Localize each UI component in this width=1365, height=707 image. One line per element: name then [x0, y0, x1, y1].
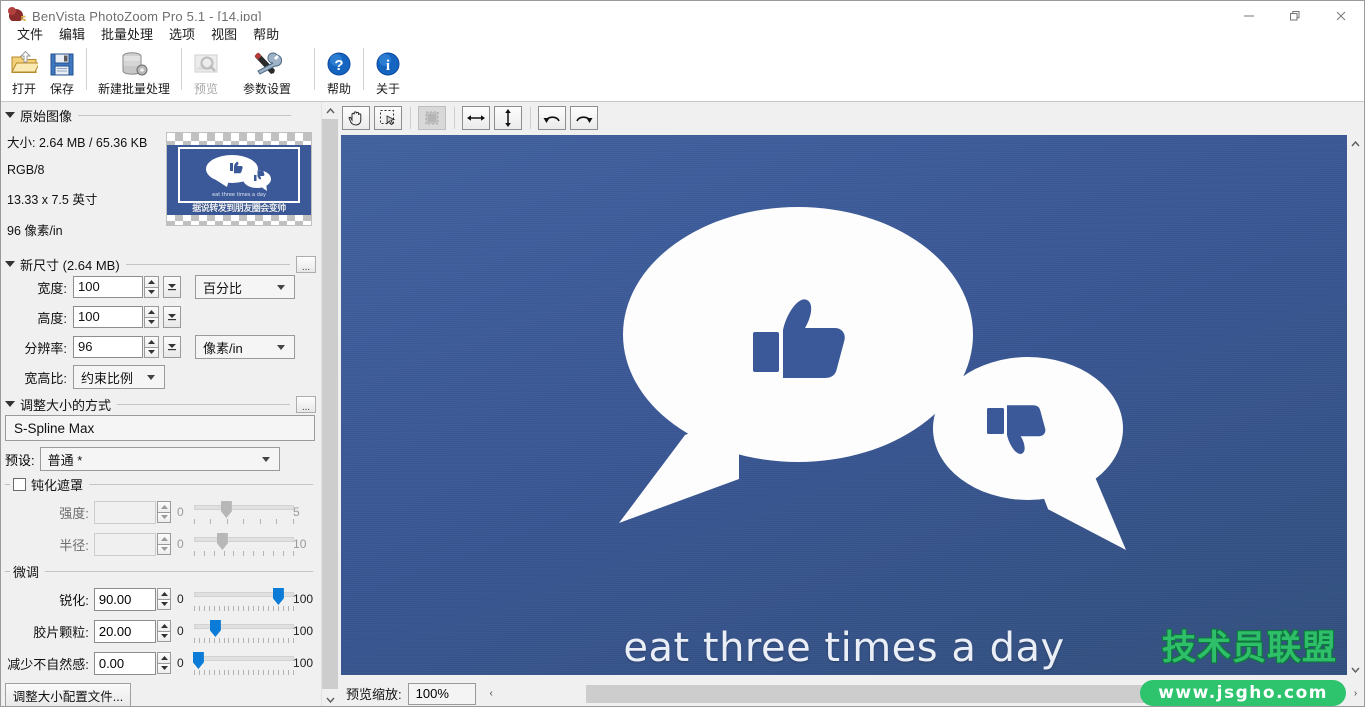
chevron-down-icon	[262, 457, 270, 462]
zoom-select[interactable]: 100%	[408, 683, 476, 705]
application-window: 5 BenVista PhotoZoom Pro 5.1 - [14.jpg]	[0, 0, 1365, 707]
filmgrain-stepper[interactable]	[157, 620, 171, 642]
slider-ticks	[194, 670, 294, 675]
stepper-up-icon[interactable]	[144, 276, 159, 288]
open-button[interactable]: 打开	[5, 45, 43, 100]
scroll-right-arrow-icon[interactable]: ›	[1347, 685, 1364, 703]
height-row: 高度: 100	[1, 305, 321, 329]
radius-row: 半径: 0 10	[1, 530, 321, 558]
toolbar-separator-1	[86, 48, 87, 90]
thumbnail-frame: eat three times a day	[178, 147, 300, 203]
menu-item-batch[interactable]: 批量处理	[93, 22, 161, 45]
flip-horizontal-icon	[466, 110, 486, 126]
settings-button[interactable]: 参数设置	[225, 45, 309, 100]
artifact-reduction-max: 100	[293, 656, 321, 670]
width-row: 宽度: 100 百分比	[1, 275, 321, 299]
stepper-down-icon[interactable]	[157, 632, 171, 643]
resolution-lock-button[interactable]	[163, 336, 181, 358]
svg-text:i: i	[386, 58, 390, 74]
slider-thumb[interactable]	[217, 533, 228, 550]
rotate-right-button[interactable]	[570, 106, 598, 130]
settings-panel-scrollbar[interactable]	[321, 102, 338, 707]
slider-ticks	[194, 519, 294, 524]
rotate-left-button[interactable]	[538, 106, 566, 130]
toolbar-separator-3	[314, 48, 315, 90]
image-toolbar-separator-1	[410, 107, 411, 129]
resolution-stepper[interactable]	[144, 336, 159, 358]
group-dash	[5, 484, 10, 485]
image-toolbar	[338, 102, 1364, 134]
height-input[interactable]: 100	[73, 306, 143, 328]
slider-thumb[interactable]	[210, 620, 221, 637]
settings-tools-icon	[252, 49, 282, 79]
radius-slider[interactable]	[194, 531, 287, 557]
zoom-label: 预览缩放:	[346, 684, 402, 703]
collapse-triangle-icon	[5, 261, 15, 267]
settings-panel: 原始图像 大小: 2.64 MB / 65.36 KB RGB/8 13.33 …	[1, 102, 321, 707]
original-colormode-text: RGB/8	[7, 163, 166, 177]
hand-pan-icon	[347, 109, 365, 127]
sharpen-row: 锐化: 90.00 0 100	[1, 585, 321, 613]
original-image-title: 原始图像	[20, 106, 72, 125]
svg-text:eat three times a day: eat three times a day	[212, 192, 266, 198]
resize-method-section-header[interactable]: 调整大小的方式 ...	[1, 395, 321, 413]
header-rule	[126, 264, 290, 265]
group-dash	[5, 571, 10, 572]
svg-text:?: ?	[334, 57, 343, 74]
new-size-title: 新尺寸 (2.64 MB)	[20, 255, 120, 274]
stepper-up-icon[interactable]	[144, 336, 159, 348]
image-canvas[interactable]: eat three times a day 技术员联盟	[341, 135, 1347, 675]
width-input[interactable]: 100	[73, 276, 143, 298]
radius-label: 半径:	[5, 535, 89, 554]
aspect-value: 约束比例	[81, 368, 140, 387]
unsharp-mask-checkbox[interactable]	[13, 478, 26, 491]
height-label: 高度:	[7, 308, 67, 327]
rotate-cw-icon	[574, 110, 594, 126]
pan-tool-button[interactable]	[342, 106, 370, 130]
preview-vertical-scrollbar[interactable]	[1347, 135, 1364, 678]
about-button[interactable]: i 关于	[369, 45, 407, 100]
width-stepper[interactable]	[144, 276, 159, 298]
marquee-select-icon	[379, 109, 397, 127]
artifact-reduction-min: 0	[177, 656, 192, 670]
slider-track	[194, 624, 294, 629]
artifact-reduction-row: 减少不自然感: 0.00 0 100	[1, 649, 321, 677]
original-resolution-text: 96 像素/in	[7, 220, 166, 239]
menu-item-file[interactable]: 文件	[9, 22, 51, 45]
new-size-section-header[interactable]: 新尺寸 (2.64 MB) ...	[1, 255, 321, 273]
new-batch-button[interactable]: 新建批量处理	[92, 45, 176, 100]
sharpen-label: 锐化:	[5, 590, 89, 609]
resolution-row: 分辨率: 96 像素/in	[1, 335, 321, 359]
filmgrain-max: 100	[293, 624, 321, 638]
crop-tool-button[interactable]	[418, 106, 446, 130]
height-lock-button[interactable]	[163, 306, 181, 328]
scroll-down-arrow-icon[interactable]	[322, 691, 339, 707]
help-button[interactable]: ? 帮助	[320, 45, 358, 100]
artifact-reduction-input[interactable]: 0.00	[94, 652, 156, 675]
preview-button-label: 预览	[194, 80, 218, 97]
select-tool-button[interactable]	[374, 106, 402, 130]
watermark-text: 技术员联盟	[1162, 620, 1337, 669]
slider-thumb[interactable]	[273, 588, 284, 605]
menu-bar: 文件 编辑 批量处理 选项 视图 帮助	[1, 21, 1364, 45]
width-label: 宽度:	[7, 278, 67, 297]
open-button-label: 打开	[12, 80, 36, 97]
artifact-reduction-stepper[interactable]	[157, 652, 171, 674]
preview-photo: eat three times a day 技术员联盟	[341, 135, 1347, 675]
scroll-up-arrow-icon[interactable]	[322, 102, 339, 119]
slider-thumb[interactable]	[221, 501, 232, 518]
strength-row: 强度: 0 5	[1, 498, 321, 526]
sharpen-stepper[interactable]	[157, 588, 171, 610]
stepper-up-icon[interactable]	[157, 533, 171, 545]
preset-label: 预设:	[5, 450, 35, 469]
artifact-reduction-label: 减少不自然感:	[5, 654, 89, 673]
main-toolbar: 打开 保存	[1, 45, 1364, 102]
original-size-text: 大小: 2.64 MB / 65.36 KB	[7, 132, 166, 151]
thumbnail-picture: eat three times a day 据说转发到朋友圈会变帅	[167, 145, 311, 215]
resize-method-value: S-Spline Max	[14, 421, 290, 436]
stepper-up-icon[interactable]	[144, 306, 159, 318]
image-thumbnail[interactable]: eat three times a day 据说转发到朋友圈会变帅	[166, 132, 312, 226]
menu-item-view[interactable]: 视图	[203, 22, 245, 45]
radius-stepper[interactable]	[157, 533, 171, 555]
flip-horizontal-button[interactable]	[462, 106, 490, 130]
resolution-unit-value: 像素/in	[203, 338, 270, 357]
original-image-info: 大小: 2.64 MB / 65.36 KB RGB/8 13.33 x 7.5…	[1, 132, 166, 251]
resize-method-more-button[interactable]: ...	[296, 396, 316, 413]
stepper-down-icon[interactable]	[157, 545, 171, 556]
new-batch-button-label: 新建批量处理	[98, 80, 170, 97]
aspect-label: 宽高比:	[7, 368, 67, 387]
thumbnail-caption: 据说转发到朋友圈会变帅	[167, 201, 311, 214]
crop-icon	[423, 109, 441, 127]
stepper-down-icon[interactable]	[157, 664, 171, 675]
header-rule	[89, 484, 313, 485]
preview-button[interactable]: 预览	[187, 45, 225, 100]
open-folder-icon	[10, 49, 38, 79]
filmgrain-min: 0	[177, 624, 192, 638]
batch-database-icon	[119, 49, 149, 79]
stepper-down-icon[interactable]	[157, 600, 171, 611]
finetune-label: 微调	[13, 562, 39, 581]
flip-vertical-button[interactable]	[494, 106, 522, 130]
resize-method-title: 调整大小的方式	[20, 395, 111, 414]
aspect-row: 宽高比: 约束比例	[1, 365, 321, 389]
height-stepper[interactable]	[144, 306, 159, 328]
collapse-triangle-icon	[5, 401, 15, 407]
watermark-url: www.jsgho.com	[1140, 680, 1346, 706]
slider-ticks	[194, 551, 294, 556]
menu-item-help[interactable]: 帮助	[245, 22, 287, 45]
slider-track	[194, 505, 294, 510]
filmgrain-label: 胶片颗粒:	[5, 622, 89, 641]
original-dimensions-text: 13.33 x 7.5 英寸	[7, 189, 166, 208]
slider-ticks	[194, 606, 294, 611]
collapse-triangle-icon	[5, 112, 15, 118]
toolbar-separator-2	[181, 48, 182, 90]
preview-area: eat three times a day 技术员联盟 预览缩放: 100% ‹	[338, 102, 1364, 707]
header-rule	[45, 571, 313, 572]
settings-button-label: 参数设置	[243, 80, 291, 97]
menu-item-options[interactable]: 选项	[161, 22, 203, 45]
strength-stepper[interactable]	[157, 501, 171, 523]
strength-max: 5	[293, 505, 321, 519]
unsharp-mask-header: 钝化遮罩	[1, 476, 321, 492]
strength-slider[interactable]	[194, 499, 287, 525]
stepper-up-icon[interactable]	[157, 588, 171, 600]
toolbar-separator-4	[363, 48, 364, 90]
slider-thumb[interactable]	[193, 652, 204, 669]
strength-label: 强度:	[5, 503, 89, 522]
filmgrain-input[interactable]: 20.00	[94, 620, 156, 643]
scroll-down-arrow-icon[interactable]	[1347, 661, 1364, 678]
sharpen-input[interactable]: 90.00	[94, 588, 156, 611]
scroll-up-arrow-icon[interactable]	[1347, 135, 1364, 152]
about-button-label: 关于	[376, 80, 400, 97]
rotate-ccw-icon	[542, 110, 562, 126]
header-rule	[117, 404, 290, 405]
strength-min: 0	[177, 505, 192, 519]
help-button-label: 帮助	[327, 80, 351, 97]
header-rule	[78, 115, 291, 116]
original-image-section-header[interactable]: 原始图像	[1, 106, 321, 124]
preset-select[interactable]: 普通 *	[40, 447, 280, 471]
resolution-input[interactable]: 96	[73, 336, 143, 358]
resolution-label: 分辨率:	[7, 338, 67, 357]
stepper-up-icon[interactable]	[157, 652, 171, 664]
save-button[interactable]: 保存	[43, 45, 81, 100]
stepper-down-icon[interactable]	[144, 318, 159, 329]
stepper-down-icon[interactable]	[144, 348, 159, 359]
image-toolbar-separator-2	[454, 107, 455, 129]
save-disk-icon	[49, 49, 75, 79]
about-info-icon: i	[375, 49, 401, 79]
slider-ticks	[194, 638, 294, 643]
width-lock-button[interactable]	[163, 276, 181, 298]
chevron-down-icon	[147, 375, 155, 380]
filmgrain-slider[interactable]	[194, 618, 287, 644]
flip-vertical-icon	[500, 108, 516, 128]
size-unit-value: 百分比	[203, 278, 270, 297]
strength-input[interactable]	[94, 501, 156, 524]
help-question-icon: ?	[326, 49, 352, 79]
new-size-more-button[interactable]: ...	[296, 256, 316, 273]
artifact-reduction-slider[interactable]	[194, 650, 287, 676]
aspect-select[interactable]: 约束比例	[73, 365, 165, 389]
radius-input[interactable]	[94, 533, 156, 556]
slider-track	[194, 537, 294, 542]
save-button-label: 保存	[50, 80, 74, 97]
resize-method-select[interactable]: S-Spline Max	[5, 415, 315, 441]
unsharp-mask-label: 钝化遮罩	[31, 475, 83, 494]
original-image-body: 大小: 2.64 MB / 65.36 KB RGB/8 13.33 x 7.5…	[1, 126, 321, 251]
zoom-value: 100%	[416, 686, 452, 701]
resolution-unit-select[interactable]: 像素/in	[195, 335, 295, 359]
radius-max: 10	[293, 537, 321, 551]
sharpen-min: 0	[177, 592, 192, 606]
resize-profile-button[interactable]: 调整大小配置文件...	[5, 683, 131, 707]
stepper-down-icon[interactable]	[157, 513, 171, 524]
scroll-left-arrow-icon[interactable]: ‹	[483, 685, 500, 703]
preset-row: 预设: 普通 *	[1, 447, 321, 471]
stepper-up-icon[interactable]	[157, 620, 171, 632]
slider-track	[194, 656, 294, 661]
stepper-down-icon[interactable]	[144, 288, 159, 299]
sharpen-max: 100	[293, 592, 321, 606]
preview-magnifier-icon	[192, 49, 220, 79]
filmgrain-row: 胶片颗粒: 20.00 0 100	[1, 617, 321, 645]
size-unit-select[interactable]: 百分比	[195, 275, 295, 299]
image-toolbar-separator-3	[530, 107, 531, 129]
chevron-down-icon	[277, 285, 285, 290]
sharpen-slider[interactable]	[194, 586, 287, 612]
scrollbar-thumb[interactable]	[322, 119, 339, 689]
preset-value: 普通 *	[48, 450, 255, 469]
menu-item-edit[interactable]: 编辑	[51, 22, 93, 45]
thumbs-down-icon	[986, 397, 1048, 467]
thumbs-up-icon	[751, 280, 851, 390]
radius-min: 0	[177, 537, 192, 551]
finetune-header: 微调	[1, 563, 321, 579]
stepper-up-icon[interactable]	[157, 501, 171, 513]
chevron-down-icon	[277, 345, 285, 350]
